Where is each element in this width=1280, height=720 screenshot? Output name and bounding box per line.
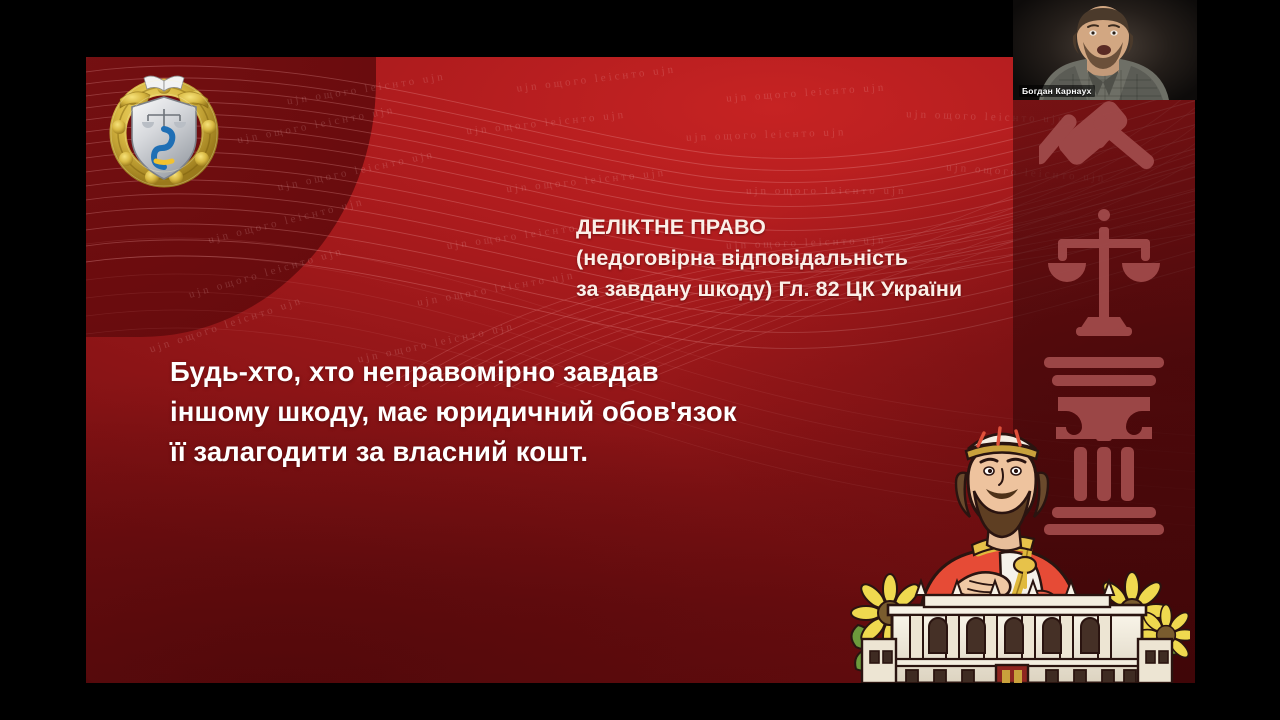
university-emblem: [104, 65, 224, 195]
presentation-slide: ujn ощого leiснто ujn ujn ощого leiснто …: [86, 57, 1195, 683]
participant-name-label: Богдан Карнаух: [1019, 85, 1095, 97]
yaroslav-the-wise-and-university-building-illustration: [850, 413, 1190, 683]
slide-title: ДЕЛІКТНЕ ПРАВО (недоговірна відповідальн…: [576, 212, 1006, 305]
slide-title-line-1: ДЕЛІКТНЕ ПРАВО: [576, 212, 1006, 243]
slide-body-text: Будь-хто, хто неправомірно завдав іншому…: [170, 352, 810, 472]
slide-title-line-2: (недоговірна відповідальність: [576, 243, 1006, 274]
screen: ujn ощого leiснто ujn ujn ощого leiснто …: [0, 0, 1280, 720]
scales-of-justice-icon: [1044, 205, 1164, 341]
slide-title-line-3: за завдану шкоду) Гл. 82 ЦК України: [576, 274, 1006, 305]
slide-body-line-3: її залагодити за власний кошт.: [170, 432, 810, 472]
slide-body-line-1: Будь-хто, хто неправомірно завдав: [170, 352, 810, 392]
webcam-participant-tile[interactable]: Богдан Карнаух: [1013, 0, 1197, 100]
slide-body-line-2: іншому шкоду, має юридичний обов'язок: [170, 392, 810, 432]
